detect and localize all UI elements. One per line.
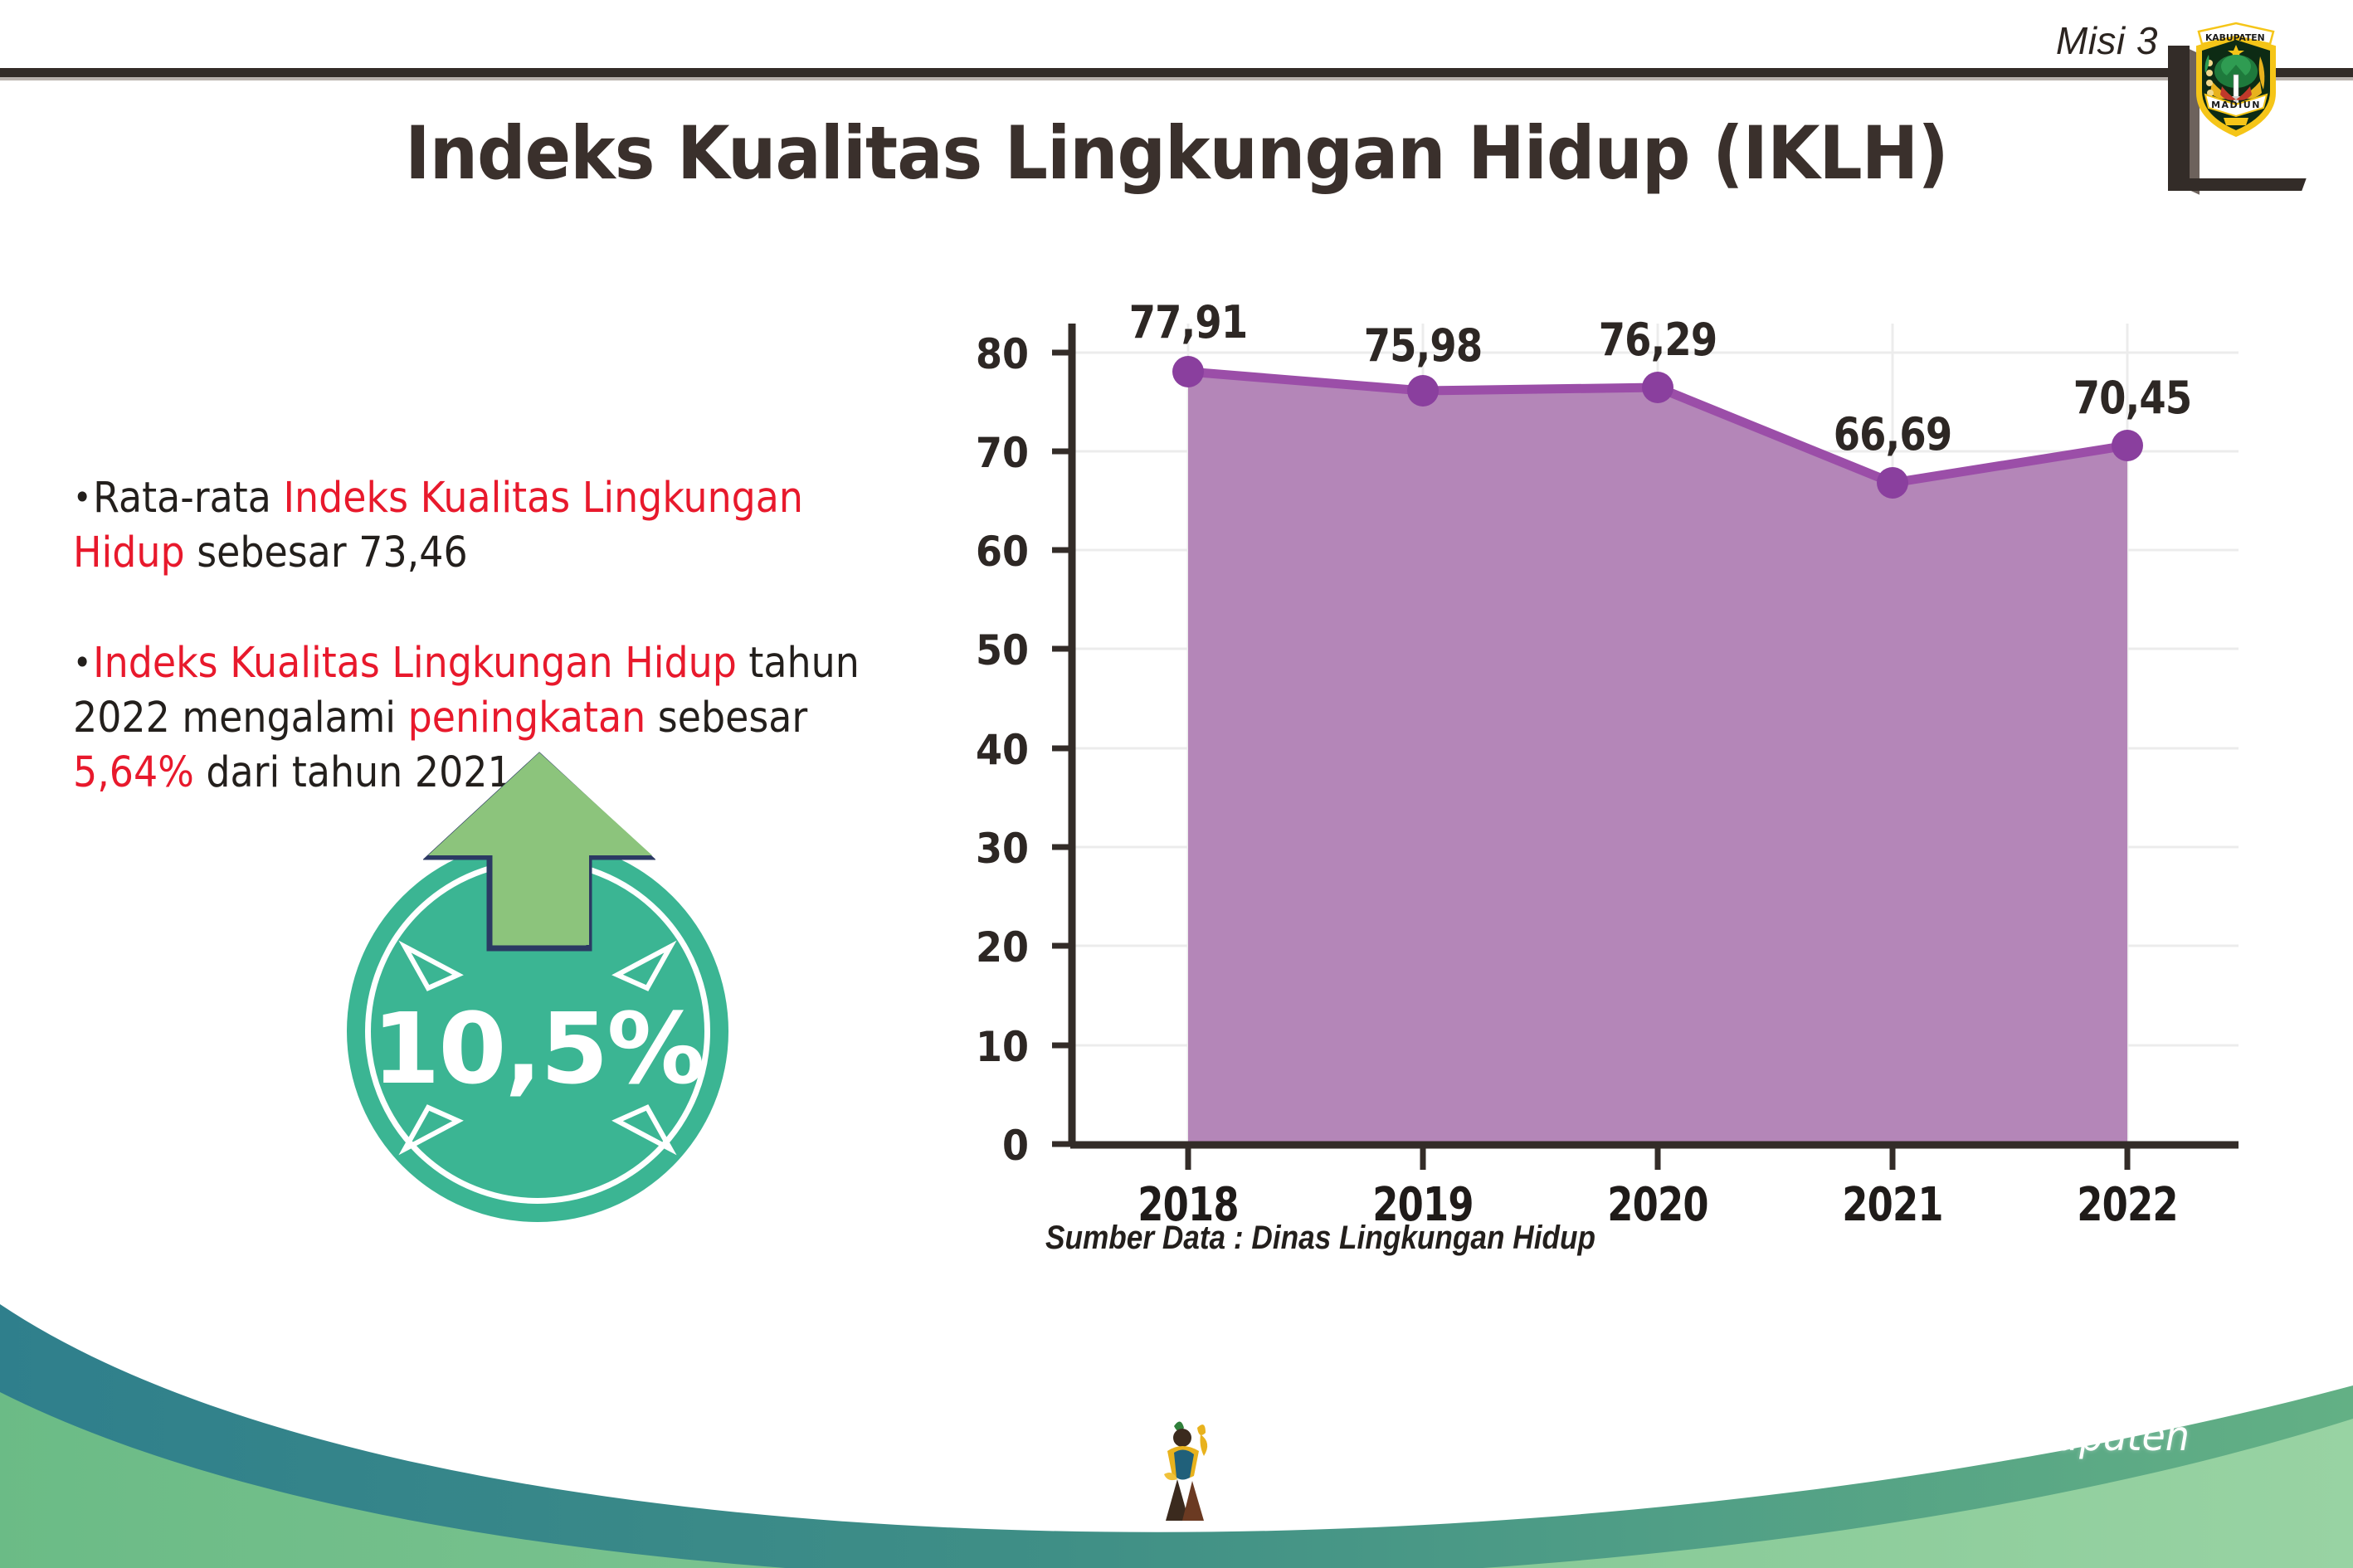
x-tick-label-2020: 2020 xyxy=(1585,1178,1731,1232)
header-rule xyxy=(0,68,2353,77)
y-tick-label-10: 10 xyxy=(938,1023,1029,1071)
bullet-item-average: •Rata-rata Indeks Kualitas Lingkungan Hi… xyxy=(73,471,894,582)
up-arrow-icon xyxy=(423,751,655,958)
bullet1-text-part3: sebesar 73,46 xyxy=(185,528,468,577)
bullet2-highlight-2: peningkatan xyxy=(408,694,646,743)
footer: Media Infografis Data Statistik Sektoral… xyxy=(0,1294,2353,1568)
badge-tick-top-left-icon xyxy=(398,932,473,998)
y-tick-label-80: 80 xyxy=(938,330,1029,378)
bullet-marker-1: • xyxy=(73,477,91,518)
badge-tick-bottom-right-icon xyxy=(602,1098,677,1164)
data-label-2021: 66,69 xyxy=(1800,408,1985,460)
badge-tick-top-right-icon xyxy=(602,932,677,998)
y-tick-label-60: 60 xyxy=(938,528,1029,576)
y-tick-label-30: 30 xyxy=(938,825,1029,873)
y-tick-label-0: 0 xyxy=(938,1122,1029,1170)
x-tick-label-2021: 2021 xyxy=(1820,1178,1966,1232)
svg-text:KABUPATEN: KABUPATEN xyxy=(2205,32,2265,43)
x-tick-label-2022: 2022 xyxy=(2054,1178,2200,1232)
media-infografis-logo-icon xyxy=(1149,1415,1228,1522)
data-label-2019: 75,98 xyxy=(1330,319,1516,372)
chart-plot-svg xyxy=(954,307,2282,1286)
data-label-2020: 76,29 xyxy=(1565,314,1751,366)
data-label-2018: 77,91 xyxy=(1095,296,1281,348)
y-tick-label-70: 70 xyxy=(938,429,1029,477)
bullet1-text-part1: Rata-rata xyxy=(93,474,283,523)
y-tick-label-50: 50 xyxy=(938,626,1029,674)
increase-badge: 10,5% xyxy=(322,751,753,1215)
bullet2-text-part4: sebesar xyxy=(645,694,807,743)
iklh-area-chart: 80 70 60 50 40 30 20 10 0 2018 2019 2020… xyxy=(954,307,2282,1286)
badge-percent-text: 10,5% xyxy=(347,991,728,1106)
svg-text:MADIUN: MADIUN xyxy=(2211,100,2261,110)
data-label-2022: 70,45 xyxy=(2039,372,2225,424)
footer-text: Media Infografis Data Statistik Sektoral… xyxy=(1224,1412,2263,1508)
bullet-marker-2: • xyxy=(73,642,91,683)
bullet2-highlight-1: Indeks Kualitas Lingkungan Hidup xyxy=(93,639,737,688)
bullet2-highlight-3: 5,64% xyxy=(73,748,194,797)
area-fill xyxy=(1188,372,2127,1144)
y-tick-label-20: 20 xyxy=(938,923,1029,971)
page-title: Indeks Kualitas Lingkungan Hidup (IKLH) xyxy=(82,110,2270,196)
source-note: Sumber Data : Dinas Lingkungan Hidup xyxy=(1045,1220,1595,1257)
misi-label: Misi 3 xyxy=(2056,18,2158,63)
badge-tick-bottom-left-icon xyxy=(398,1098,473,1164)
y-tick-label-40: 40 xyxy=(938,726,1029,774)
slide-root: Misi 3 KABUPATEN MADIUN xyxy=(0,0,2353,1568)
